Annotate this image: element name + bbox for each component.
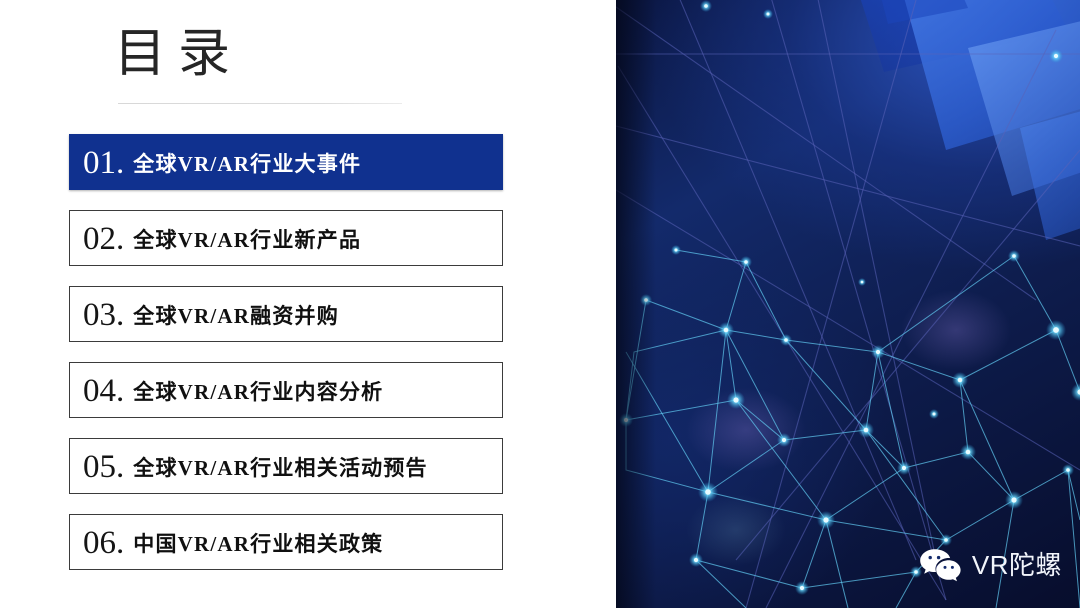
toc-item-05[interactable]: 05. 全球VR/AR行业相关活动预告 <box>69 438 503 494</box>
watermark-text: VR陀螺 <box>972 550 1062 580</box>
title-divider <box>118 103 402 104</box>
toc-item-label: 中国VR/AR行业相关政策 <box>133 531 383 557</box>
toc-item-label: 全球VR/AR行业内容分析 <box>133 379 383 405</box>
toc-item-number: 03. <box>83 297 124 333</box>
toc-item-label: 全球VR/AR行业新产品 <box>133 227 361 253</box>
toc-item-label: 全球VR/AR融资并购 <box>133 303 339 329</box>
toc-item-number: 05. <box>83 449 124 485</box>
toc-item-label: 全球VR/AR行业大事件 <box>133 151 361 177</box>
toc-item-01[interactable]: 01. 全球VR/AR行业大事件 <box>69 134 503 190</box>
decorative-network-pane: VR陀螺 <box>616 0 1080 608</box>
slide-canvas: 目录 01. 全球VR/AR行业大事件 02. 全球VR/AR行业新产品 03.… <box>0 0 1080 608</box>
toc-list: 01. 全球VR/AR行业大事件 02. 全球VR/AR行业新产品 03. 全球… <box>69 134 503 570</box>
toc-item-number: 02. <box>83 221 124 257</box>
content-pane: 目录 01. 全球VR/AR行业大事件 02. 全球VR/AR行业新产品 03.… <box>0 0 616 608</box>
watermark: VR陀螺 <box>919 548 1062 582</box>
toc-item-number: 04. <box>83 373 124 409</box>
toc-item-03[interactable]: 03. 全球VR/AR融资并购 <box>69 286 503 342</box>
toc-item-number: 01. <box>83 145 124 181</box>
toc-item-label: 全球VR/AR行业相关活动预告 <box>133 455 428 481</box>
wechat-icon <box>919 548 963 582</box>
page-title: 目录 <box>114 24 242 86</box>
toc-item-04[interactable]: 04. 全球VR/AR行业内容分析 <box>69 362 503 418</box>
network-graphic <box>616 0 1080 608</box>
toc-item-number: 06. <box>83 525 124 561</box>
toc-item-06[interactable]: 06. 中国VR/AR行业相关政策 <box>69 514 503 570</box>
toc-item-02[interactable]: 02. 全球VR/AR行业新产品 <box>69 210 503 266</box>
